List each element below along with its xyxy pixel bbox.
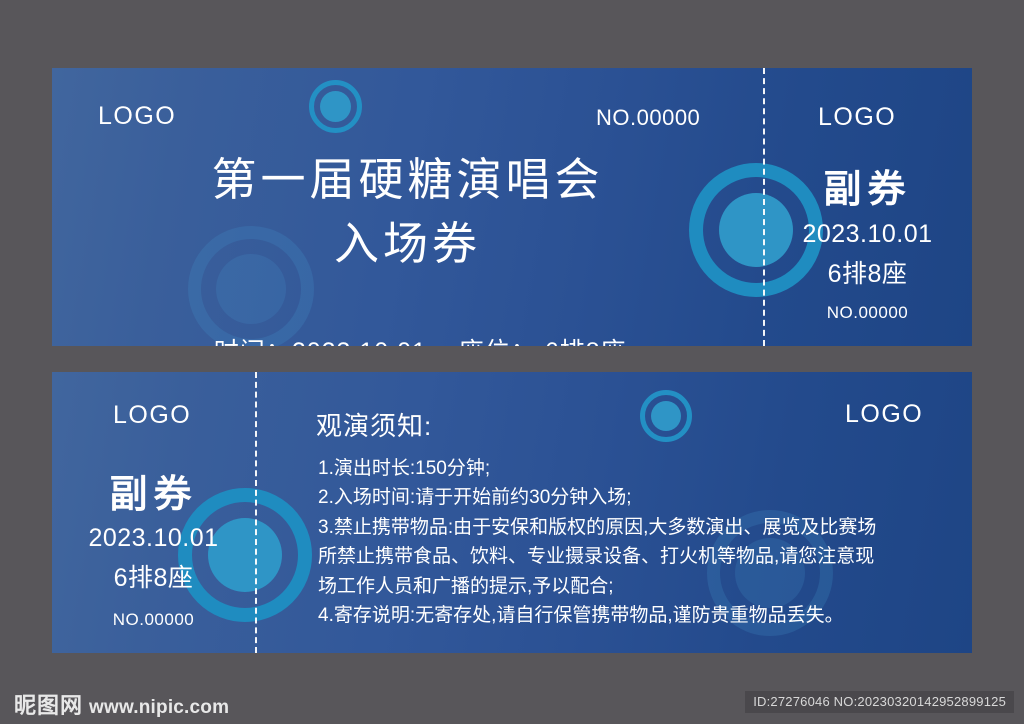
ticket-bottom-stub-date: 2023.10.01 [52,524,255,553]
ticket-bottom-stub-title: 副券 [52,463,255,518]
meta-gap [427,338,459,346]
ticket-top-stub-seat: 6排8座 [763,254,972,290]
meta-seat-value: 6排8座 [545,338,627,346]
notice-line: 1.演出时长:150分钟; [318,454,938,483]
ticket-bottom-stub-logo: LOGO [113,401,191,430]
notice-line: 所禁止携带食品、饮料、专业摄录设备、打火机等物品,请您注意现 [318,542,938,571]
meta-seat-label: 座位： [459,338,537,346]
ticket-top-stub-logo: LOGO [818,103,896,132]
ticket-top-stub-date: 2023.10.01 [763,220,972,249]
notice-line: 2.入场时间:请于开始前约30分钟入场; [318,483,938,512]
meta-seat-gap [537,338,545,346]
ticket-bottom-stub-seat: 6排8座 [52,558,255,594]
meta-time-label: 时间： [214,338,292,346]
notice-heading: 观演须知: [316,406,432,443]
ticket-title-line2: 入场券 [52,212,763,276]
ticket-meta-row: 时间：2023.10.01 座位： 6排8座 [182,303,627,346]
watermark-url: www.nipic.com [89,697,229,719]
notice-line: 场工作人员和广播的提示,予以配合; [318,572,938,601]
notice-line: 3.禁止携带物品:由于安保和版权的原因,大多数演出、展览及比赛场 [318,513,938,542]
ticket-bottom-stub-serial: NO.00000 [52,610,255,630]
asset-id-badge: ID:27276046 NO:20230320142952899125 [745,691,1014,713]
ticket-title-block: 第一届硬糖演唱会 入场券 [52,148,763,276]
notice-line: 4.寄存说明:无寄存处,请自行保管携带物品,谨防贵重物品丢失。 [318,601,938,630]
ticket-bottom-logo-right: LOGO [845,400,923,429]
ticket-top-stub-serial: NO.00000 [763,303,972,323]
meta-time-value: 2023.10.01 [292,338,427,346]
ticket-top-logo-left: LOGO [98,102,176,131]
decor-circle-small-bottom [640,390,692,442]
watermark-logo-text: 昵图网 [14,688,83,720]
ticket-top-stub-title: 副券 [763,158,972,213]
ticket-title-line1: 第一届硬糖演唱会 [52,148,763,212]
ring-core [651,401,681,431]
ticket-top-serial: NO.00000 [596,105,700,131]
ticket-bottom: LOGO 副券 2023.10.01 6排8座 NO.00000 LOGO 观演… [52,372,972,653]
decor-circle-small-top [309,80,362,133]
ticket-top: LOGO NO.00000 第一届硬糖演唱会 入场券 时间：2023.10.01… [52,68,972,346]
notice-body: 1.演出时长:150分钟;2.入场时间:请于开始前约30分钟入场;3.禁止携带物… [318,454,938,631]
ring-core [320,91,351,122]
watermark: 昵图网 www.nipic.com [14,688,229,720]
perforation-line-bottom [255,372,257,653]
